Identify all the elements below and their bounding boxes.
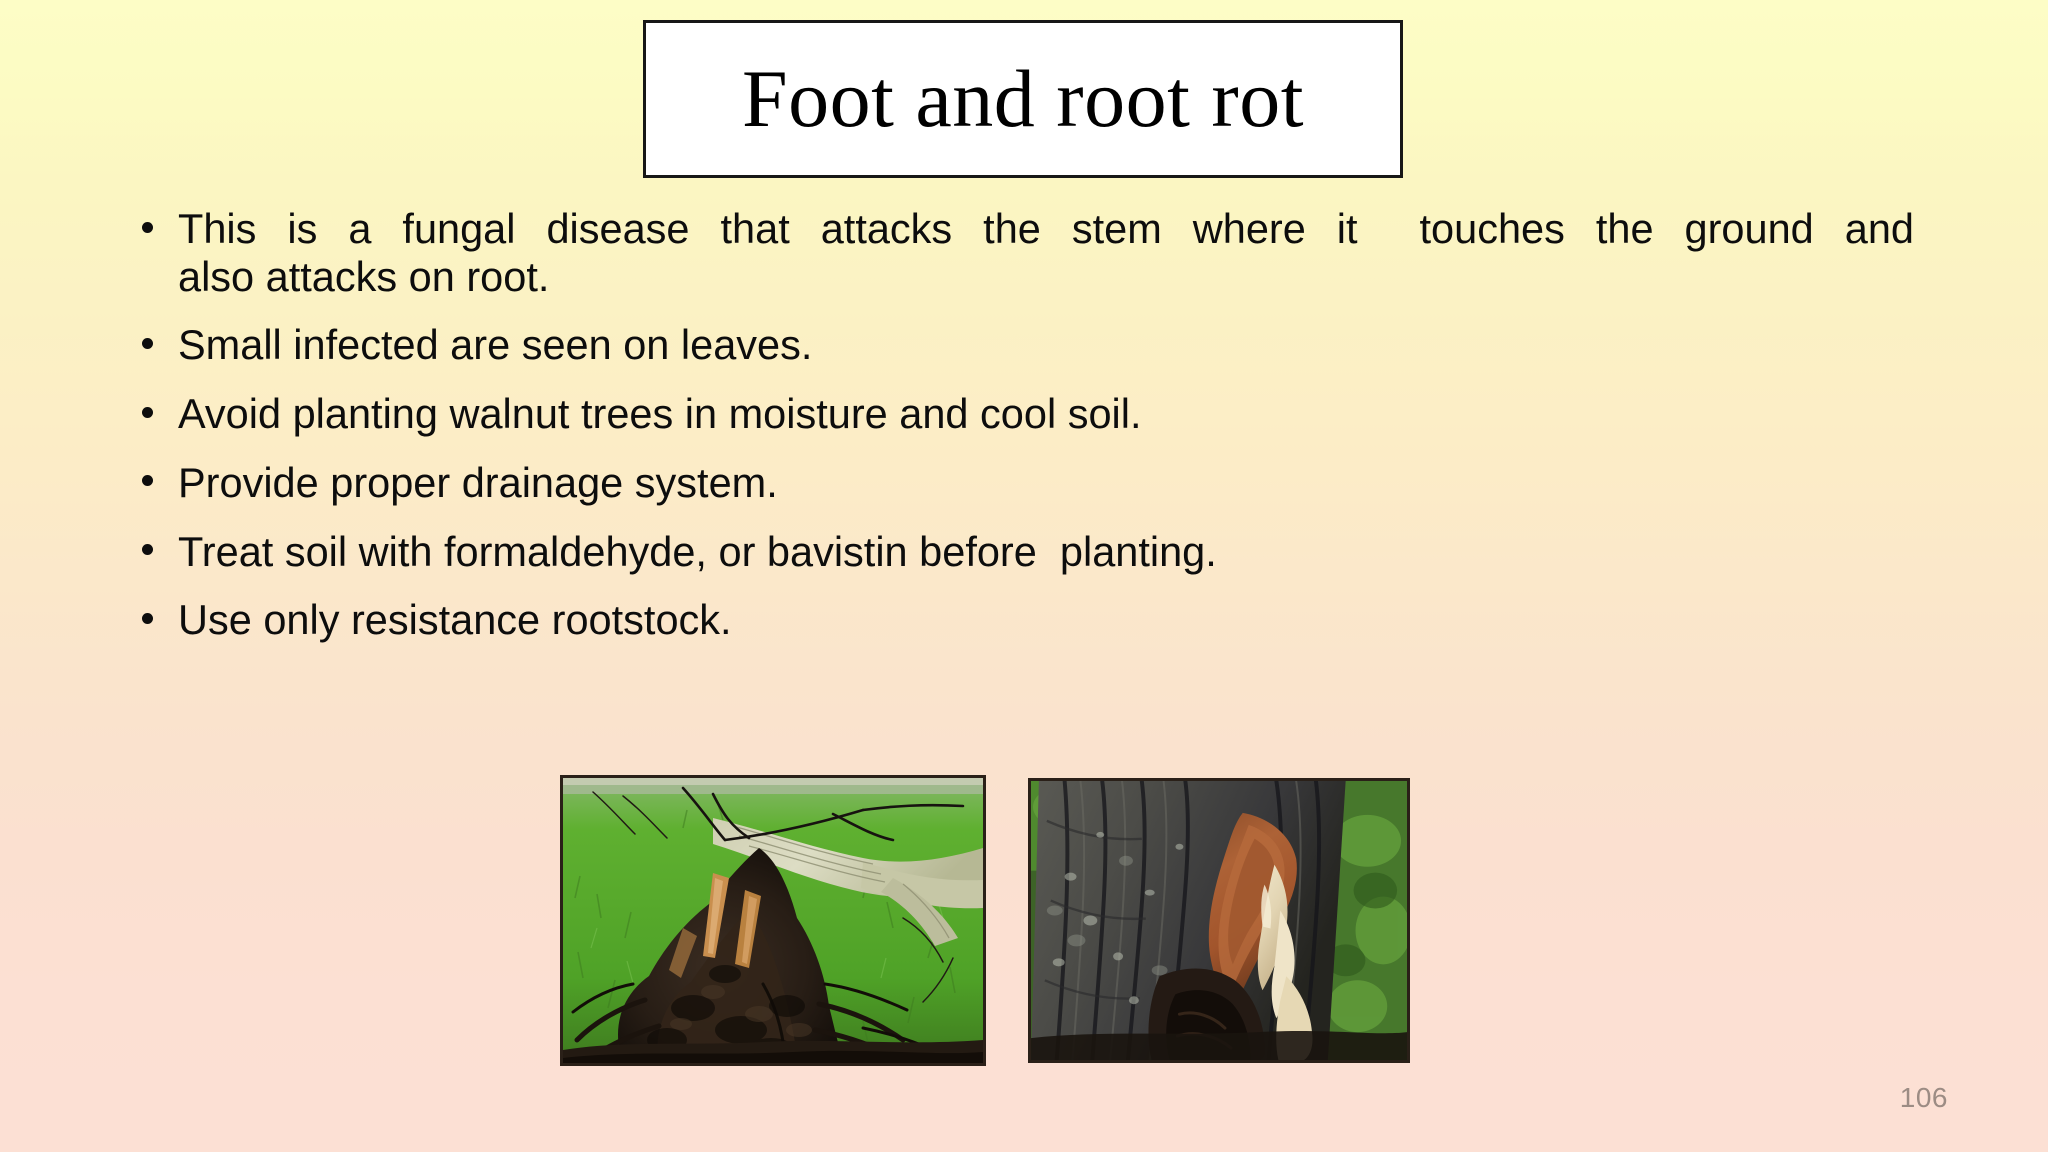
- list-item: Use only resistance rootstock.: [128, 596, 1914, 644]
- bullet-list: This is a fungal disease that attacks th…: [128, 205, 1914, 665]
- list-item-text: Small infected are seen on leaves.: [178, 321, 1914, 369]
- list-item-text: Provide proper drainage system.: [178, 459, 1914, 507]
- photo-content: [563, 778, 983, 1063]
- title-box: Foot and root rot: [643, 20, 1403, 178]
- bullet-dot-icon: [142, 475, 153, 486]
- page-title: Foot and root rot: [742, 58, 1304, 140]
- list-item-line: This is a fungal disease that attacks th…: [178, 205, 1914, 253]
- bullet-dot-icon: [142, 222, 153, 233]
- uprooted-walnut-tree-with-rotted-roots-photo: [560, 775, 986, 1066]
- list-item: This is a fungal disease that attacks th…: [128, 205, 1914, 300]
- bullet-dot-icon: [142, 544, 153, 555]
- page-number: 106: [1900, 1082, 1948, 1114]
- bullet-dot-icon: [142, 407, 153, 418]
- list-item-text: Avoid planting walnut trees in moisture …: [178, 390, 1914, 438]
- list-item: Treat soil with formaldehyde, or bavisti…: [128, 528, 1914, 576]
- list-item-line: also attacks on root.: [178, 253, 1914, 301]
- tree-trunk-with-foot-rot-lesion-photo: [1028, 778, 1410, 1063]
- list-item: Small infected are seen on leaves.: [128, 321, 1914, 369]
- list-item: Avoid planting walnut trees in moisture …: [128, 390, 1914, 438]
- trunk-lesion-illustration: [1031, 781, 1407, 1060]
- list-item-text: Treat soil with formaldehyde, or bavisti…: [178, 528, 1914, 576]
- list-item: Provide proper drainage system.: [128, 459, 1914, 507]
- list-item-text: Use only resistance rootstock.: [178, 596, 1914, 644]
- bullet-dot-icon: [142, 338, 153, 349]
- presentation-slide: Foot and root rot This is a fungal disea…: [0, 0, 2048, 1152]
- uprooted-tree-illustration: [563, 778, 983, 1063]
- list-item-text: This is a fungal disease that attacks th…: [178, 205, 1914, 300]
- bullet-dot-icon: [142, 613, 153, 624]
- photo-content: [1031, 781, 1407, 1060]
